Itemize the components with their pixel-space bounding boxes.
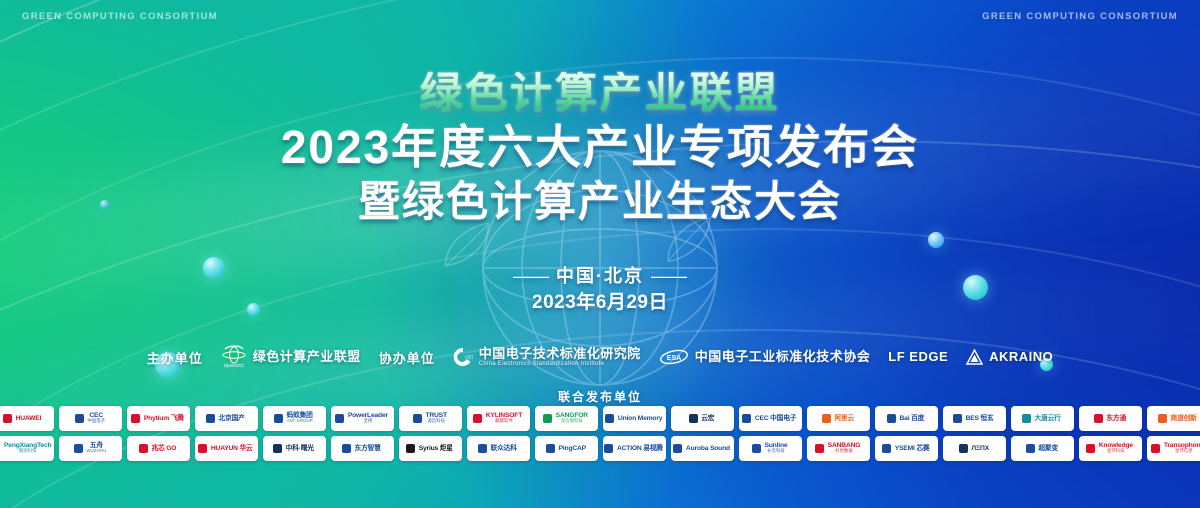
partner-logo-chip[interactable]: Phytium 飞腾 <box>127 406 190 431</box>
logo-name: 超聚变 <box>1038 445 1058 452</box>
partner-logo-chip[interactable]: 中科·曙光 <box>263 436 326 461</box>
esa-icon: ESA <box>659 347 689 367</box>
logo-mark: 云宏 <box>689 414 715 423</box>
logo-glyph-icon <box>959 444 968 453</box>
logo-mark: PingCAP <box>546 444 587 453</box>
cohost-lfedge: LF EDGE <box>888 350 948 364</box>
logo-mark: ЛΞПX <box>959 444 989 453</box>
esa-name: 中国电子工业标准化技术协会 <box>695 350 871 364</box>
partner-logo-chip[interactable]: 东方通 <box>1079 406 1142 431</box>
logo-glyph-icon <box>1086 444 1095 453</box>
logo-mark: CEC 中国电子 <box>742 414 797 423</box>
partner-logo-chip[interactable]: PengXiangTech鹏翔科技 <box>0 436 54 461</box>
logo-mark: Phytium 飞腾 <box>131 414 185 423</box>
logo-glyph-icon <box>413 414 422 423</box>
logo-mark: Union Memory <box>605 414 663 423</box>
partner-logo-chip[interactable]: SANBANG杉岩数据 <box>807 436 870 461</box>
logo-glyph-icon <box>673 444 682 453</box>
logo-glyph-icon <box>604 444 613 453</box>
logo-mark: 蚂蚁集团ANT GROUP <box>274 412 313 424</box>
title-line-1: 绿色计算产业联盟 <box>0 72 1200 118</box>
logo-name: 商道创新 <box>1171 415 1197 422</box>
logo-mark: Auroba Sound <box>673 444 731 453</box>
logo-glyph-icon <box>546 444 555 453</box>
logo-glyph-icon <box>1026 444 1035 453</box>
partner-logo-chip[interactable]: YSEMI 芯赛 <box>875 436 938 461</box>
svg-text:CESI: CESI <box>465 355 473 360</box>
partner-logo-chip[interactable]: Auroba Sound <box>671 436 734 461</box>
logo-mark: CEC中国电子 <box>75 412 105 424</box>
akraino-triangle-icon <box>966 349 983 365</box>
partner-logo-chip[interactable]: PingCAP <box>535 436 598 461</box>
logo-subtitle: 星环科技 <box>1099 450 1133 455</box>
host-logo: OpenGCC 绿色计算产业联盟 <box>221 345 361 369</box>
partner-logo-chip[interactable]: 兆芯 GO <box>127 436 190 461</box>
host-name: 绿色计算产业联盟 <box>253 350 361 364</box>
logo-name: HUAWEI <box>15 415 41 422</box>
partner-logo-chip[interactable]: HUAWEI <box>0 406 54 431</box>
logo-glyph-icon <box>1151 444 1160 453</box>
logo-glyph-icon <box>752 444 761 453</box>
corner-label-right: GREEN COMPUTING CONSORTIUM <box>982 11 1178 22</box>
logo-mark: 中科·曙光 <box>273 444 314 453</box>
logo-mark: Sunline长亮科技 <box>752 442 788 454</box>
partner-logo-grid: 安谋科技ARM CHINAHUAWEICEC中国电子Phytium 飞腾北京国产… <box>50 406 1150 466</box>
logo-row-2: GreatDB万里数据库XSKY 星辰天合PengXiangTech鹏翔科技五舟… <box>50 436 1150 461</box>
logo-name: KYLINSOFT麒麟软件 <box>486 413 522 425</box>
title-line-2: 2023年度六大产业专项发布会 <box>0 124 1200 170</box>
logo-subtitle: 诚迈科技 <box>425 420 446 425</box>
logo-mark: PowerLeader宝德 <box>335 412 389 424</box>
partner-logo-chip[interactable]: Union Memory <box>603 406 666 431</box>
cohost-label: 协办单位 <box>379 348 435 367</box>
event-location: —— 中国·北京 —— <box>0 262 1200 288</box>
logo-glyph-icon <box>1158 414 1167 423</box>
partner-logo-chip[interactable]: HUAYUN 华云 <box>195 436 258 461</box>
logo-glyph-icon <box>206 414 215 423</box>
corner-label-left: GREEN COMPUTING CONSORTIUM <box>22 11 218 22</box>
svg-text:ESA: ESA <box>667 355 681 362</box>
logo-subtitle: 杉岩数据 <box>828 450 861 455</box>
logo-glyph-icon <box>689 414 698 423</box>
partner-logo-chip[interactable]: 蚂蚁集团ANT GROUP <box>263 406 326 431</box>
partner-logo-chip[interactable]: Knowledge星环科技 <box>1079 436 1142 461</box>
cohost-cesi: CESI 中国电子技术标准化研究院China Electronics Stand… <box>453 347 641 367</box>
logo-name: PingCAP <box>558 445 585 452</box>
partner-logo-chip[interactable]: BES 恒玄 <box>943 406 1006 431</box>
logo-mark: PengXiangTech鹏翔科技 <box>0 442 53 454</box>
logo-subtitle: 长亮科技 <box>765 450 788 455</box>
logo-name: SANGFOR深信服科技 <box>556 413 588 425</box>
partner-logo-chip[interactable]: 东方智慧 <box>331 436 394 461</box>
logo-name: 联众达科 <box>491 445 517 452</box>
logo-name: Knowledge星环科技 <box>1099 443 1133 455</box>
logo-name: BES 恒玄 <box>966 415 994 422</box>
logo-name: Union Memory <box>618 415 662 422</box>
logo-name: SANBANG杉岩数据 <box>828 443 861 455</box>
logo-mark: Bai 百度 <box>887 414 925 423</box>
logo-mark: Knowledge星环科技 <box>1086 442 1134 454</box>
cohost-akraino: AKRAINO <box>966 349 1053 365</box>
logo-name: 蚂蚁集团ANT GROUP <box>287 413 313 425</box>
logo-name: 大唐云行 <box>1035 415 1061 422</box>
partner-logo-chip[interactable]: CEC 中国电子 <box>739 406 802 431</box>
logo-subtitle: 深信服科技 <box>556 420 588 425</box>
logo-mark: 兆芯 GO <box>139 444 177 453</box>
partner-logo-chip[interactable]: 商道创新 <box>1147 406 1200 431</box>
logo-mark: 阿里云 <box>822 414 854 423</box>
logo-subtitle: 鹏翔科技 <box>4 450 51 455</box>
cesi-icon: CESI <box>453 347 473 367</box>
host-label: 主办单位 <box>147 348 203 367</box>
partner-logo-chip[interactable]: 五舟WUZHOU <box>59 436 122 461</box>
logo-glyph-icon <box>742 414 751 423</box>
logo-mark: Syrius 炬星 <box>406 444 454 453</box>
logo-row-1: 安谋科技ARM CHINAHUAWEICEC中国电子Phytium 飞腾北京国产… <box>50 406 1150 431</box>
logo-glyph-icon <box>139 444 148 453</box>
logo-mark: TRUST诚迈科技 <box>413 412 447 424</box>
logo-name: PengXiangTech鹏翔科技 <box>4 443 51 455</box>
logo-glyph-icon <box>3 414 12 423</box>
partner-logo-chip[interactable]: PowerLeader宝德 <box>331 406 394 431</box>
logo-name: ЛΞПX <box>971 445 989 452</box>
logo-glyph-icon <box>815 444 824 453</box>
organizers-row: 主办单位 OpenGCC 绿色计算产业联盟 协办单位 CESI <box>0 345 1200 369</box>
logo-mark: HUAYUN 华云 <box>198 444 253 453</box>
logo-glyph-icon <box>335 414 344 423</box>
logo-glyph-icon <box>1022 414 1031 423</box>
conference-banner: GREEN COMPUTING CONSORTIUM GREEN COMPUTI… <box>0 0 1200 508</box>
logo-name: 北京国产 <box>219 415 245 422</box>
logo-subtitle: 宝德 <box>348 420 388 425</box>
logo-mark: YSEMI 芯赛 <box>882 444 930 453</box>
logo-glyph-icon <box>478 444 487 453</box>
partner-logo-chip[interactable]: SANGFOR深信服科技 <box>535 406 598 431</box>
logo-subtitle: ANT GROUP <box>287 420 313 425</box>
logo-mark: 五舟WUZHOU <box>74 442 107 454</box>
logo-name: 阿里云 <box>834 415 854 422</box>
logo-subtitle: 中国电子 <box>87 420 105 425</box>
logo-mark: 联众达科 <box>478 444 517 453</box>
dash-left: —— <box>513 266 549 286</box>
title-line-3: 暨绿色计算产业生态大会 <box>0 181 1200 223</box>
logo-glyph-icon <box>822 414 831 423</box>
logo-glyph-icon <box>131 414 140 423</box>
partner-logo-chip[interactable]: TRUST诚迈科技 <box>399 406 462 431</box>
logo-name: Sunline长亮科技 <box>765 443 788 455</box>
logo-name: Auroba Sound <box>686 445 730 452</box>
logo-name: Syrius 炬星 <box>419 445 453 452</box>
logo-mark: SANBANG杉岩数据 <box>815 442 861 454</box>
partner-logo-chip[interactable]: Bai 百度 <box>875 406 938 431</box>
logo-glyph-icon <box>198 444 207 453</box>
logo-name: 东方智慧 <box>355 445 381 452</box>
logo-glyph-icon <box>887 414 896 423</box>
logo-name: CEC 中国电子 <box>755 415 796 422</box>
logo-name: 五舟WUZHOU <box>86 443 106 455</box>
partner-logo-chip[interactable]: ЛΞПX <box>943 436 1006 461</box>
logo-glyph-icon <box>1094 414 1103 423</box>
logo-subtitle: 星环信息 <box>1164 450 1200 455</box>
logo-glyph-icon <box>473 414 482 423</box>
logo-name: 云宏 <box>701 415 714 422</box>
logo-mark: HUAWEI <box>3 414 42 423</box>
logo-glyph-icon <box>342 444 351 453</box>
akraino-name: AKRAINO <box>989 350 1053 364</box>
logo-name: Transophone星环信息 <box>1164 443 1200 455</box>
logo-glyph-icon <box>274 414 283 423</box>
logo-glyph-icon <box>953 414 962 423</box>
logo-mark: KYLINSOFT麒麟软件 <box>473 412 523 424</box>
decorative-sphere <box>928 232 944 248</box>
logo-mark: 北京国产 <box>206 414 245 423</box>
logo-mark: 大唐云行 <box>1022 414 1061 423</box>
title-block: 绿色计算产业联盟 2023年度六大产业专项发布会 暨绿色计算产业生态大会 <box>0 72 1200 223</box>
logo-name: Phytium 飞腾 <box>144 415 184 422</box>
cesi-name-en: China Electronics Standardization Instit… <box>479 361 641 367</box>
logo-name: ACTION 易视腾 <box>617 445 663 452</box>
logo-mark: 商道创新 <box>1158 414 1197 423</box>
logo-mark: 东方通 <box>1094 414 1126 423</box>
logo-glyph-icon <box>882 444 891 453</box>
cohost-esa: ESA 中国电子工业标准化技术协会 <box>659 347 871 367</box>
logo-mark: BES 恒玄 <box>953 414 994 423</box>
dash-right: —— <box>651 266 687 286</box>
partner-logo-chip[interactable]: KYLINSOFT麒麟软件 <box>467 406 530 431</box>
logo-name: 东方通 <box>1106 415 1126 422</box>
svg-text:OpenGCC: OpenGCC <box>223 363 244 368</box>
logo-glyph-icon <box>75 414 84 423</box>
partner-logo-chip[interactable]: 大唐云行 <box>1011 406 1074 431</box>
logo-name: TRUST诚迈科技 <box>425 413 446 425</box>
logo-mark: 超聚变 <box>1026 444 1058 453</box>
joint-release-label: 联合发布单位 <box>0 388 1200 405</box>
logo-mark: 东方智慧 <box>342 444 381 453</box>
partner-logo-chip[interactable]: CEC中国电子 <box>59 406 122 431</box>
logo-name: Bai 百度 <box>900 415 925 422</box>
partner-logo-chip[interactable]: 超聚变 <box>1011 436 1074 461</box>
logo-mark: Transophone星环信息 <box>1151 442 1200 454</box>
logo-name: YSEMI 芯赛 <box>895 445 930 452</box>
logo-glyph-icon <box>605 414 614 423</box>
partner-logo-chip[interactable]: 阿里云 <box>807 406 870 431</box>
logo-subtitle: WUZHOU <box>86 450 106 455</box>
partner-logo-chip[interactable]: 联众达科 <box>467 436 530 461</box>
cesi-name: 中国电子技术标准化研究院China Electronics Standardiz… <box>479 347 641 367</box>
opengcc-globe-icon: OpenGCC <box>221 345 247 369</box>
partner-logo-chip[interactable]: Sunline长亮科技 <box>739 436 802 461</box>
logo-glyph-icon <box>74 444 83 453</box>
logo-glyph-icon <box>273 444 282 453</box>
logo-name: 中科·曙光 <box>286 445 314 452</box>
logo-glyph-icon <box>543 414 552 423</box>
partner-logo-chip[interactable]: Transophone星环信息 <box>1147 436 1200 461</box>
partner-logo-chip[interactable]: Syrius 炬星 <box>399 436 462 461</box>
logo-mark: ACTION 易视腾 <box>604 444 664 453</box>
partner-logo-chip[interactable]: 北京国产 <box>195 406 258 431</box>
logo-name: 兆芯 GO <box>152 445 177 452</box>
logo-name: HUAYUN 华云 <box>211 445 253 452</box>
logo-mark: SANGFOR深信服科技 <box>543 412 589 424</box>
event-date: 2023年6月29日 <box>0 287 1200 314</box>
partner-logo-chip[interactable]: 云宏 <box>671 406 734 431</box>
logo-glyph-icon <box>406 444 415 453</box>
lfedge-name: LF EDGE <box>888 350 948 364</box>
location-text: 中国·北京 <box>556 266 644 286</box>
logo-name: CEC中国电子 <box>87 413 105 425</box>
partner-logo-chip[interactable]: ACTION 易视腾 <box>603 436 666 461</box>
logo-name: PowerLeader宝德 <box>348 413 388 425</box>
logo-subtitle: 麒麟软件 <box>486 420 522 425</box>
